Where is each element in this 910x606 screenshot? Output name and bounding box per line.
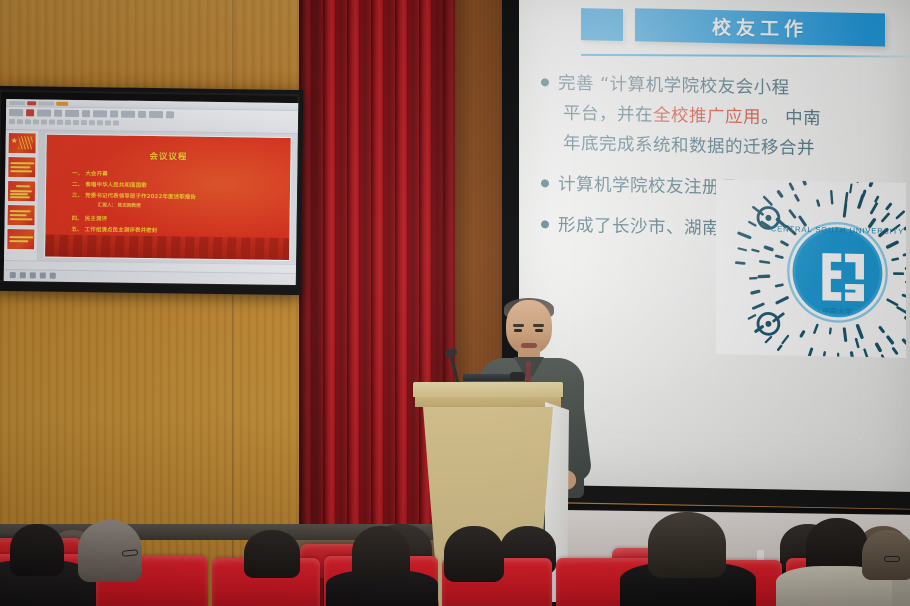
bullet-highlight-text: 全校推广应用 <box>653 106 761 128</box>
ribbon-small-icon[interactable] <box>97 120 103 125</box>
audience-head <box>352 526 410 580</box>
ribbon-small-icon[interactable] <box>9 119 15 124</box>
logo-inner-text: 中南大学 <box>822 306 853 317</box>
eyeglasses <box>884 556 900 562</box>
ribbon-small-icon[interactable] <box>25 119 31 124</box>
bullet-line-text: 。 中南 <box>761 108 821 129</box>
ribbon-small-icon[interactable] <box>73 120 79 125</box>
ribbon-small-icon[interactable] <box>57 120 63 125</box>
podium-front-lip <box>415 397 561 407</box>
app-body: ★ <box>4 130 298 264</box>
ribbon-small-icon[interactable] <box>113 120 119 125</box>
taskbar-icon[interactable] <box>10 272 16 278</box>
csu-mini-program-code-icon: CENTRAL SOUTH UNIVERSITY 中南大学 <box>716 179 906 358</box>
taskbar-icon[interactable] <box>50 273 56 279</box>
ribbon-small-icon[interactable] <box>41 119 47 124</box>
ribbon-small-icon[interactable] <box>49 120 55 125</box>
agenda-sub-item: 汇报人： 陈志刚教授 <box>98 202 141 209</box>
titlebar-chip-orange <box>56 101 68 105</box>
ribbon-icon[interactable] <box>138 111 146 118</box>
ribbon-icon[interactable] <box>110 110 118 117</box>
rays-decoration <box>19 136 33 149</box>
agenda-item: 五、 工作组清点民主测评表并密封 <box>71 225 157 234</box>
audience-area <box>0 512 910 606</box>
monitor-bezel: ★ <box>0 90 299 286</box>
wall-monitor: ★ <box>0 86 303 295</box>
ribbon-icon[interactable] <box>9 109 23 116</box>
taskbar-icon[interactable] <box>30 272 36 278</box>
agenda-slide-title: 会议议程 <box>46 149 290 164</box>
titlebar-chip <box>9 101 25 105</box>
ribbon-small-icon[interactable] <box>17 119 23 124</box>
slide-title-bar: 校友工作 <box>635 8 885 46</box>
slide-thumbnail[interactable] <box>7 156 36 178</box>
audience-head <box>648 512 726 578</box>
bullet-line-text: 年底完成系统和数据的迁移合并 <box>563 134 815 159</box>
slide-thumbnail[interactable]: ★ <box>7 132 36 154</box>
podium-top-surface <box>413 382 563 397</box>
slide-skyline-graphic <box>45 235 289 260</box>
slide-thumbnail[interactable] <box>7 180 36 202</box>
titlebar-chip-red <box>27 101 36 105</box>
status-left <box>8 263 9 267</box>
wood-wall-upper-panel <box>0 0 300 96</box>
slide-title-underline <box>581 54 910 58</box>
slide-title-row: 校友工作 <box>581 7 885 46</box>
audience-head <box>862 530 910 580</box>
app-ribbon-toolbar[interactable] <box>6 107 298 134</box>
title-accent-square <box>581 8 623 41</box>
ribbon-icon[interactable] <box>54 110 62 117</box>
bullet-dot-icon <box>541 220 549 228</box>
presentation-app-window[interactable]: ★ <box>4 99 299 285</box>
ribbon-small-icon[interactable] <box>65 120 71 125</box>
agenda-item: 三、 党委书记代表领导班子作2022年度述职报告 <box>72 191 196 201</box>
taskbar-icon[interactable] <box>40 272 46 278</box>
ribbon-icon[interactable] <box>37 109 51 116</box>
ribbon-icon-highlight[interactable] <box>26 109 34 116</box>
bullet-line-text: 完善 “计算机学院校友会小程 <box>558 74 790 99</box>
slide-canvas[interactable]: 会议议程 一、 大会开幕 二、 奏唱中华人民共和国国歌 三、 党委书记代表领导班… <box>38 130 298 264</box>
taskbar-icon[interactable] <box>20 272 26 278</box>
ribbon-icon[interactable] <box>82 110 90 117</box>
mini-program-code-card: CENTRAL SOUTH UNIVERSITY 中南大学 <box>716 179 906 358</box>
audience-head <box>444 526 504 582</box>
ribbon-icon[interactable] <box>65 110 79 117</box>
ribbon-small-icon[interactable] <box>33 119 39 124</box>
logo-ring-text: CENTRAL SOUTH UNIVERSITY <box>771 224 905 236</box>
ribbon-small-icon[interactable] <box>89 120 95 125</box>
ribbon-icon[interactable] <box>166 111 174 118</box>
slide-thumbnail[interactable] <box>6 204 35 226</box>
slide-title-text: 校友工作 <box>712 13 808 42</box>
ribbon-small-icon[interactable] <box>105 120 111 125</box>
titlebar-chip <box>38 101 54 105</box>
ribbon-icon[interactable] <box>93 110 107 117</box>
agenda-item: 二、 奏唱中华人民共和国国歌 <box>72 180 147 189</box>
status-right <box>291 267 292 271</box>
agenda-item: 四、 民主测评 <box>72 214 108 222</box>
ribbon-icon[interactable] <box>149 111 163 118</box>
second-microphone <box>510 372 525 381</box>
photograph-auditorium-scene: 校友工作 完善 “计算机学院校友会小程 平台，并在全校推广应用。 中南 年底完成… <box>0 0 910 606</box>
bullet-dot-icon <box>541 78 549 86</box>
active-slide: 会议议程 一、 大会开幕 二、 奏唱中华人民共和国国歌 三、 党委书记代表领导班… <box>44 134 292 261</box>
bullet-dot-icon <box>541 179 549 187</box>
bullet-line-text: 平台，并在 <box>563 104 653 126</box>
ribbon-icon[interactable] <box>121 111 135 118</box>
slide-thumbnail[interactable] <box>6 228 35 250</box>
ribbon-small-icon[interactable] <box>81 120 87 125</box>
audience-head <box>10 524 64 576</box>
slide-thumbnail-panel[interactable]: ★ <box>4 130 40 260</box>
audience-head <box>244 530 300 578</box>
agenda-item: 一、 大会开幕 <box>72 169 108 177</box>
